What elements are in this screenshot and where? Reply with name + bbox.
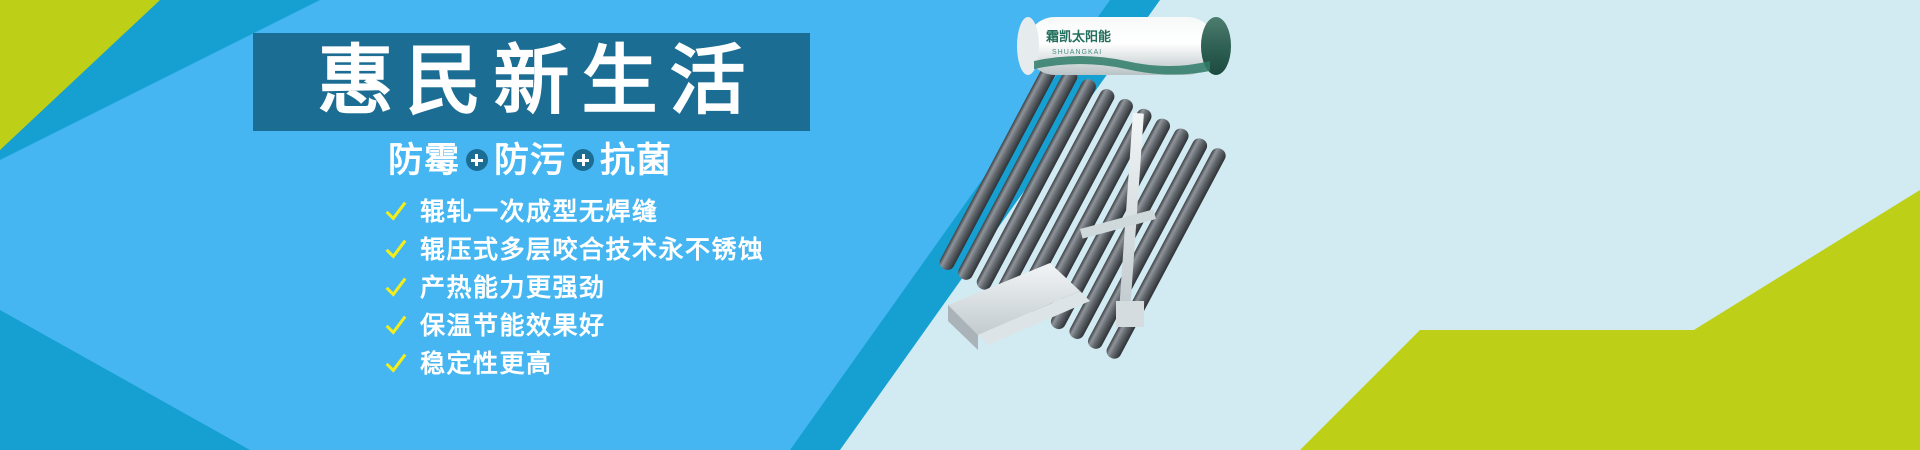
feature-label: 产热能力更强劲: [420, 276, 606, 301]
tank-logo-subtext: SHUANGKAI: [1052, 49, 1102, 56]
subtitle-word-3: 抗菌: [600, 143, 672, 178]
solar-water-heater-image: 霜凯太阳能 SHUANGKAI: [930, 5, 1310, 370]
promotional-banner: 惠民新生活 防霉 防污 抗菌 辊轧一次成型无焊缝 辊压式多层咬合技术永不锈蚀 产…: [0, 0, 1920, 450]
headline-box: 惠民新生活: [253, 33, 810, 131]
check-icon: [385, 201, 407, 223]
page-title: 惠民新生活: [306, 44, 758, 120]
tank-logo-text: 霜凯太阳能: [1045, 29, 1111, 44]
check-icon: [385, 239, 407, 261]
feature-label: 辊压式多层咬合技术永不锈蚀: [420, 238, 765, 263]
feature-list: 辊轧一次成型无焊缝 辊压式多层咬合技术永不锈蚀 产热能力更强劲 保温节能效果好: [385, 196, 765, 380]
feature-label: 稳定性更高: [420, 352, 553, 377]
subtitle-word-1: 防霉: [388, 143, 460, 178]
plus-circle-icon: [466, 149, 488, 171]
check-icon: [385, 277, 407, 299]
subtitle-word-2: 防污: [494, 143, 566, 178]
plus-circle-icon: [572, 149, 594, 171]
subtitle: 防霉 防污 抗菌: [380, 140, 680, 180]
storage-tank: 霜凯太阳能 SHUANGKAI: [1017, 17, 1231, 75]
feature-label: 辊轧一次成型无焊缝: [420, 200, 659, 225]
check-icon: [385, 315, 407, 337]
feature-label: 保温节能效果好: [420, 314, 606, 339]
list-item: 保温节能效果好: [385, 310, 765, 342]
list-item: 辊压式多层咬合技术永不锈蚀: [385, 234, 765, 266]
list-item: 稳定性更高: [385, 348, 765, 380]
check-icon: [385, 353, 407, 375]
list-item: 辊轧一次成型无焊缝: [385, 196, 765, 228]
list-item: 产热能力更强劲: [385, 272, 765, 304]
